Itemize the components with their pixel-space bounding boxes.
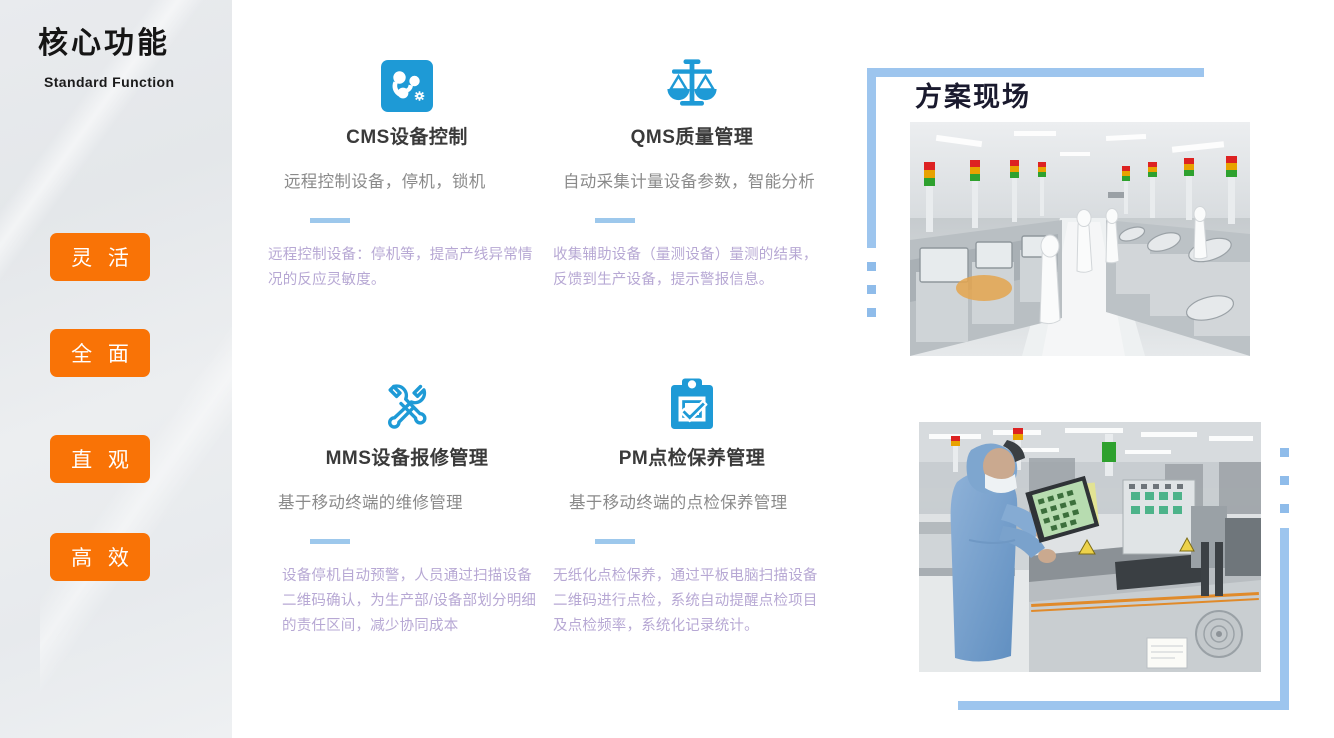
feature-card-qms[interactable]: QMS质量管理 自动采集计量设备参数，智能分析 收集辅助设备（量测设备）量测的结… <box>547 52 837 293</box>
feature-note: 收集辅助设备（量测设备）量测的结果，反馈到生产设备，提示警报信息。 <box>547 243 837 293</box>
feature-lead: 基于移动终端的维修管理 <box>262 490 552 517</box>
clipboard-check-icon <box>547 373 837 433</box>
cleanroom-production-line-photo <box>910 122 1250 356</box>
feature-lead: 远程控制设备，停机，锁机 <box>262 169 552 196</box>
scene-panel: 方案现场 <box>862 0 1334 738</box>
feature-card-cms[interactable]: CMS设备控制 远程控制设备，停机，锁机 远程控制设备：停机等，提高产线异常情况… <box>262 52 552 293</box>
frame-dot-right-3 <box>1280 504 1289 513</box>
scene-panel-title: 方案现场 <box>915 75 1031 114</box>
sidebar-pill-complete[interactable]: 全 面 <box>50 329 150 377</box>
frame-dot-right-1 <box>1280 448 1289 457</box>
feature-title: MMS设备报修管理 <box>262 443 552 470</box>
frame-left-bar <box>867 68 876 248</box>
feature-lead: 自动采集计量设备参数，智能分析 <box>547 169 837 196</box>
sidebar-pill-efficient[interactable]: 高 效 <box>50 533 150 581</box>
wrench-screwdriver-icon <box>262 373 552 433</box>
sidebar: 核心功能 Standard Function 灵 活 全 面 直 观 高 效 <box>0 0 232 738</box>
page-subtitle: Standard Function <box>44 74 174 90</box>
operator-tablet-inspection-photo <box>919 422 1261 672</box>
feature-title: QMS质量管理 <box>547 122 837 149</box>
feature-note: 无纸化点检保养，通过平板电脑扫描设备二维码进行点检，系统自动提醒点检项目及点检频… <box>547 564 837 639</box>
frame-dot-left-2 <box>867 285 876 294</box>
feature-note: 设备停机自动预警，人员通过扫描设备二维码确认，为生产部/设备部划分明细的责任区间… <box>262 564 552 639</box>
frame-bottom-bar <box>958 701 1289 710</box>
feature-title: PM点检保养管理 <box>547 443 837 470</box>
sidebar-pill-flexible[interactable]: 灵 活 <box>50 233 150 281</box>
network-gear-icon <box>262 52 552 112</box>
feature-note: 远程控制设备：停机等，提高产线异常情况的反应灵敏度。 <box>262 243 552 293</box>
frame-right-bar <box>1280 528 1289 710</box>
feature-grid: CMS设备控制 远程控制设备，停机，锁机 远程控制设备：停机等，提高产线异常情况… <box>232 0 862 738</box>
feature-divider <box>595 539 635 544</box>
feature-title: CMS设备控制 <box>262 122 552 149</box>
slide-root: 核心功能 Standard Function 灵 活 全 面 直 观 高 效 <box>0 0 1334 738</box>
balance-scale-icon <box>547 52 837 112</box>
feature-card-pm[interactable]: PM点检保养管理 基于移动终端的点检保养管理 无纸化点检保养，通过平板电脑扫描设… <box>547 373 837 639</box>
feature-divider <box>595 218 635 223</box>
feature-lead: 基于移动终端的点检保养管理 <box>547 490 837 517</box>
sidebar-pill-intuitive[interactable]: 直 观 <box>50 435 150 483</box>
feature-divider <box>310 218 350 223</box>
feature-divider <box>310 539 350 544</box>
feature-card-mms[interactable]: MMS设备报修管理 基于移动终端的维修管理 设备停机自动预警，人员通过扫描设备二… <box>262 373 552 639</box>
frame-dot-left-1 <box>867 262 876 271</box>
frame-dot-right-2 <box>1280 476 1289 485</box>
frame-dot-left-3 <box>867 308 876 317</box>
page-title: 核心功能 <box>38 18 170 62</box>
